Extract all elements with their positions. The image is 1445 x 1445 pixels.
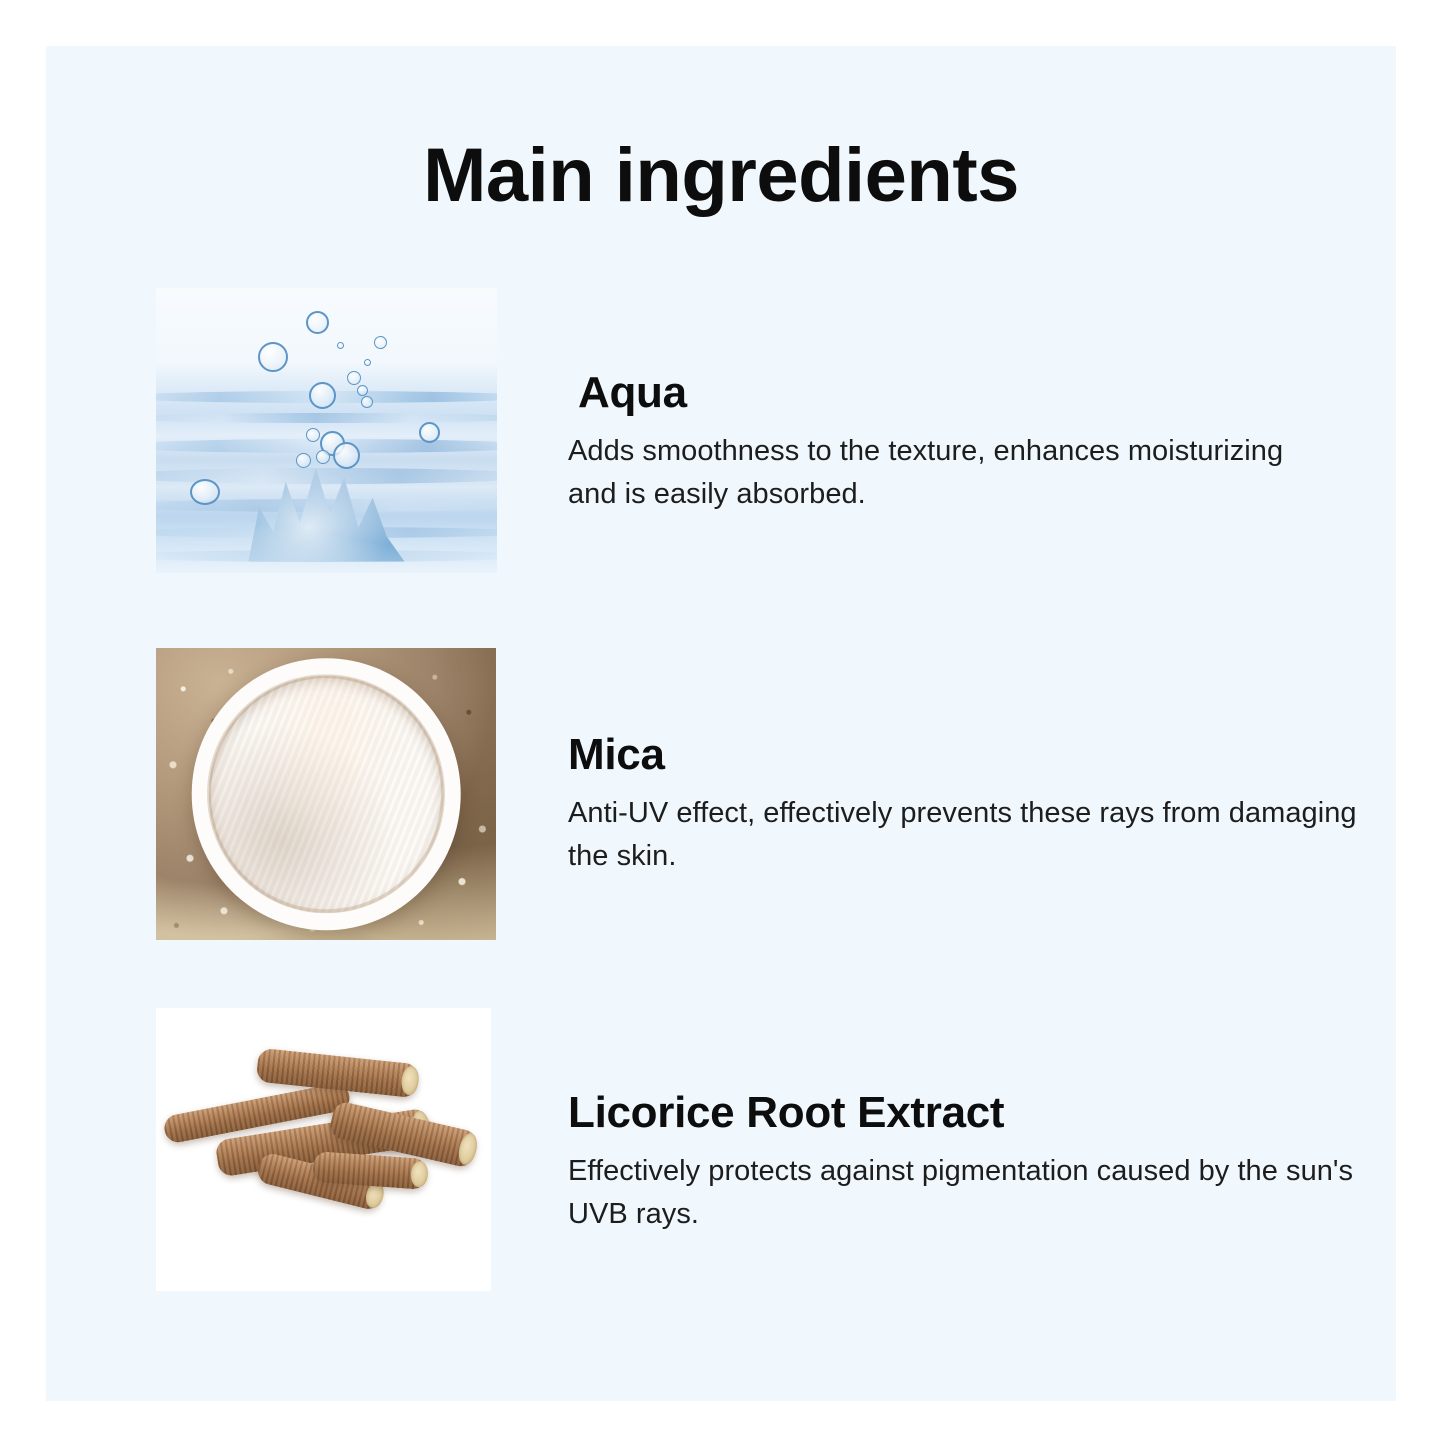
licorice-root-photo xyxy=(156,1008,491,1291)
ingredient-text: Aqua Adds smoothness to the texture, enh… xyxy=(568,370,1328,516)
ingredient-description: Anti-UV effect, effectively prevents the… xyxy=(568,792,1358,878)
ingredient-name: Mica xyxy=(568,732,1358,778)
water-splash-photo xyxy=(156,288,497,573)
content-panel: Main ingredients xyxy=(46,46,1396,1401)
ingredient-row: Mica Anti-UV effect, effectively prevent… xyxy=(156,644,1346,944)
ingredient-name: Licorice Root Extract xyxy=(568,1090,1358,1136)
page-title: Main ingredients xyxy=(46,138,1396,214)
ingredient-description: Effectively protects against pigmentatio… xyxy=(568,1150,1358,1236)
ingredient-name: Aqua xyxy=(568,370,1328,416)
ingredients-page: Main ingredients xyxy=(0,0,1445,1445)
ingredient-image-licorice xyxy=(156,1008,491,1291)
ingredient-row: Licorice Root Extract Effectively protec… xyxy=(156,1008,1346,1308)
mica-powder-photo xyxy=(156,648,496,940)
ingredient-text: Mica Anti-UV effect, effectively prevent… xyxy=(568,732,1358,878)
ingredient-image-mica xyxy=(156,648,496,940)
ingredient-text: Licorice Root Extract Effectively protec… xyxy=(568,1090,1358,1236)
ingredient-description: Adds smoothness to the texture, enhances… xyxy=(568,430,1328,516)
ingredient-image-aqua xyxy=(156,288,497,573)
ingredient-row: Aqua Adds smoothness to the texture, enh… xyxy=(156,288,1346,588)
